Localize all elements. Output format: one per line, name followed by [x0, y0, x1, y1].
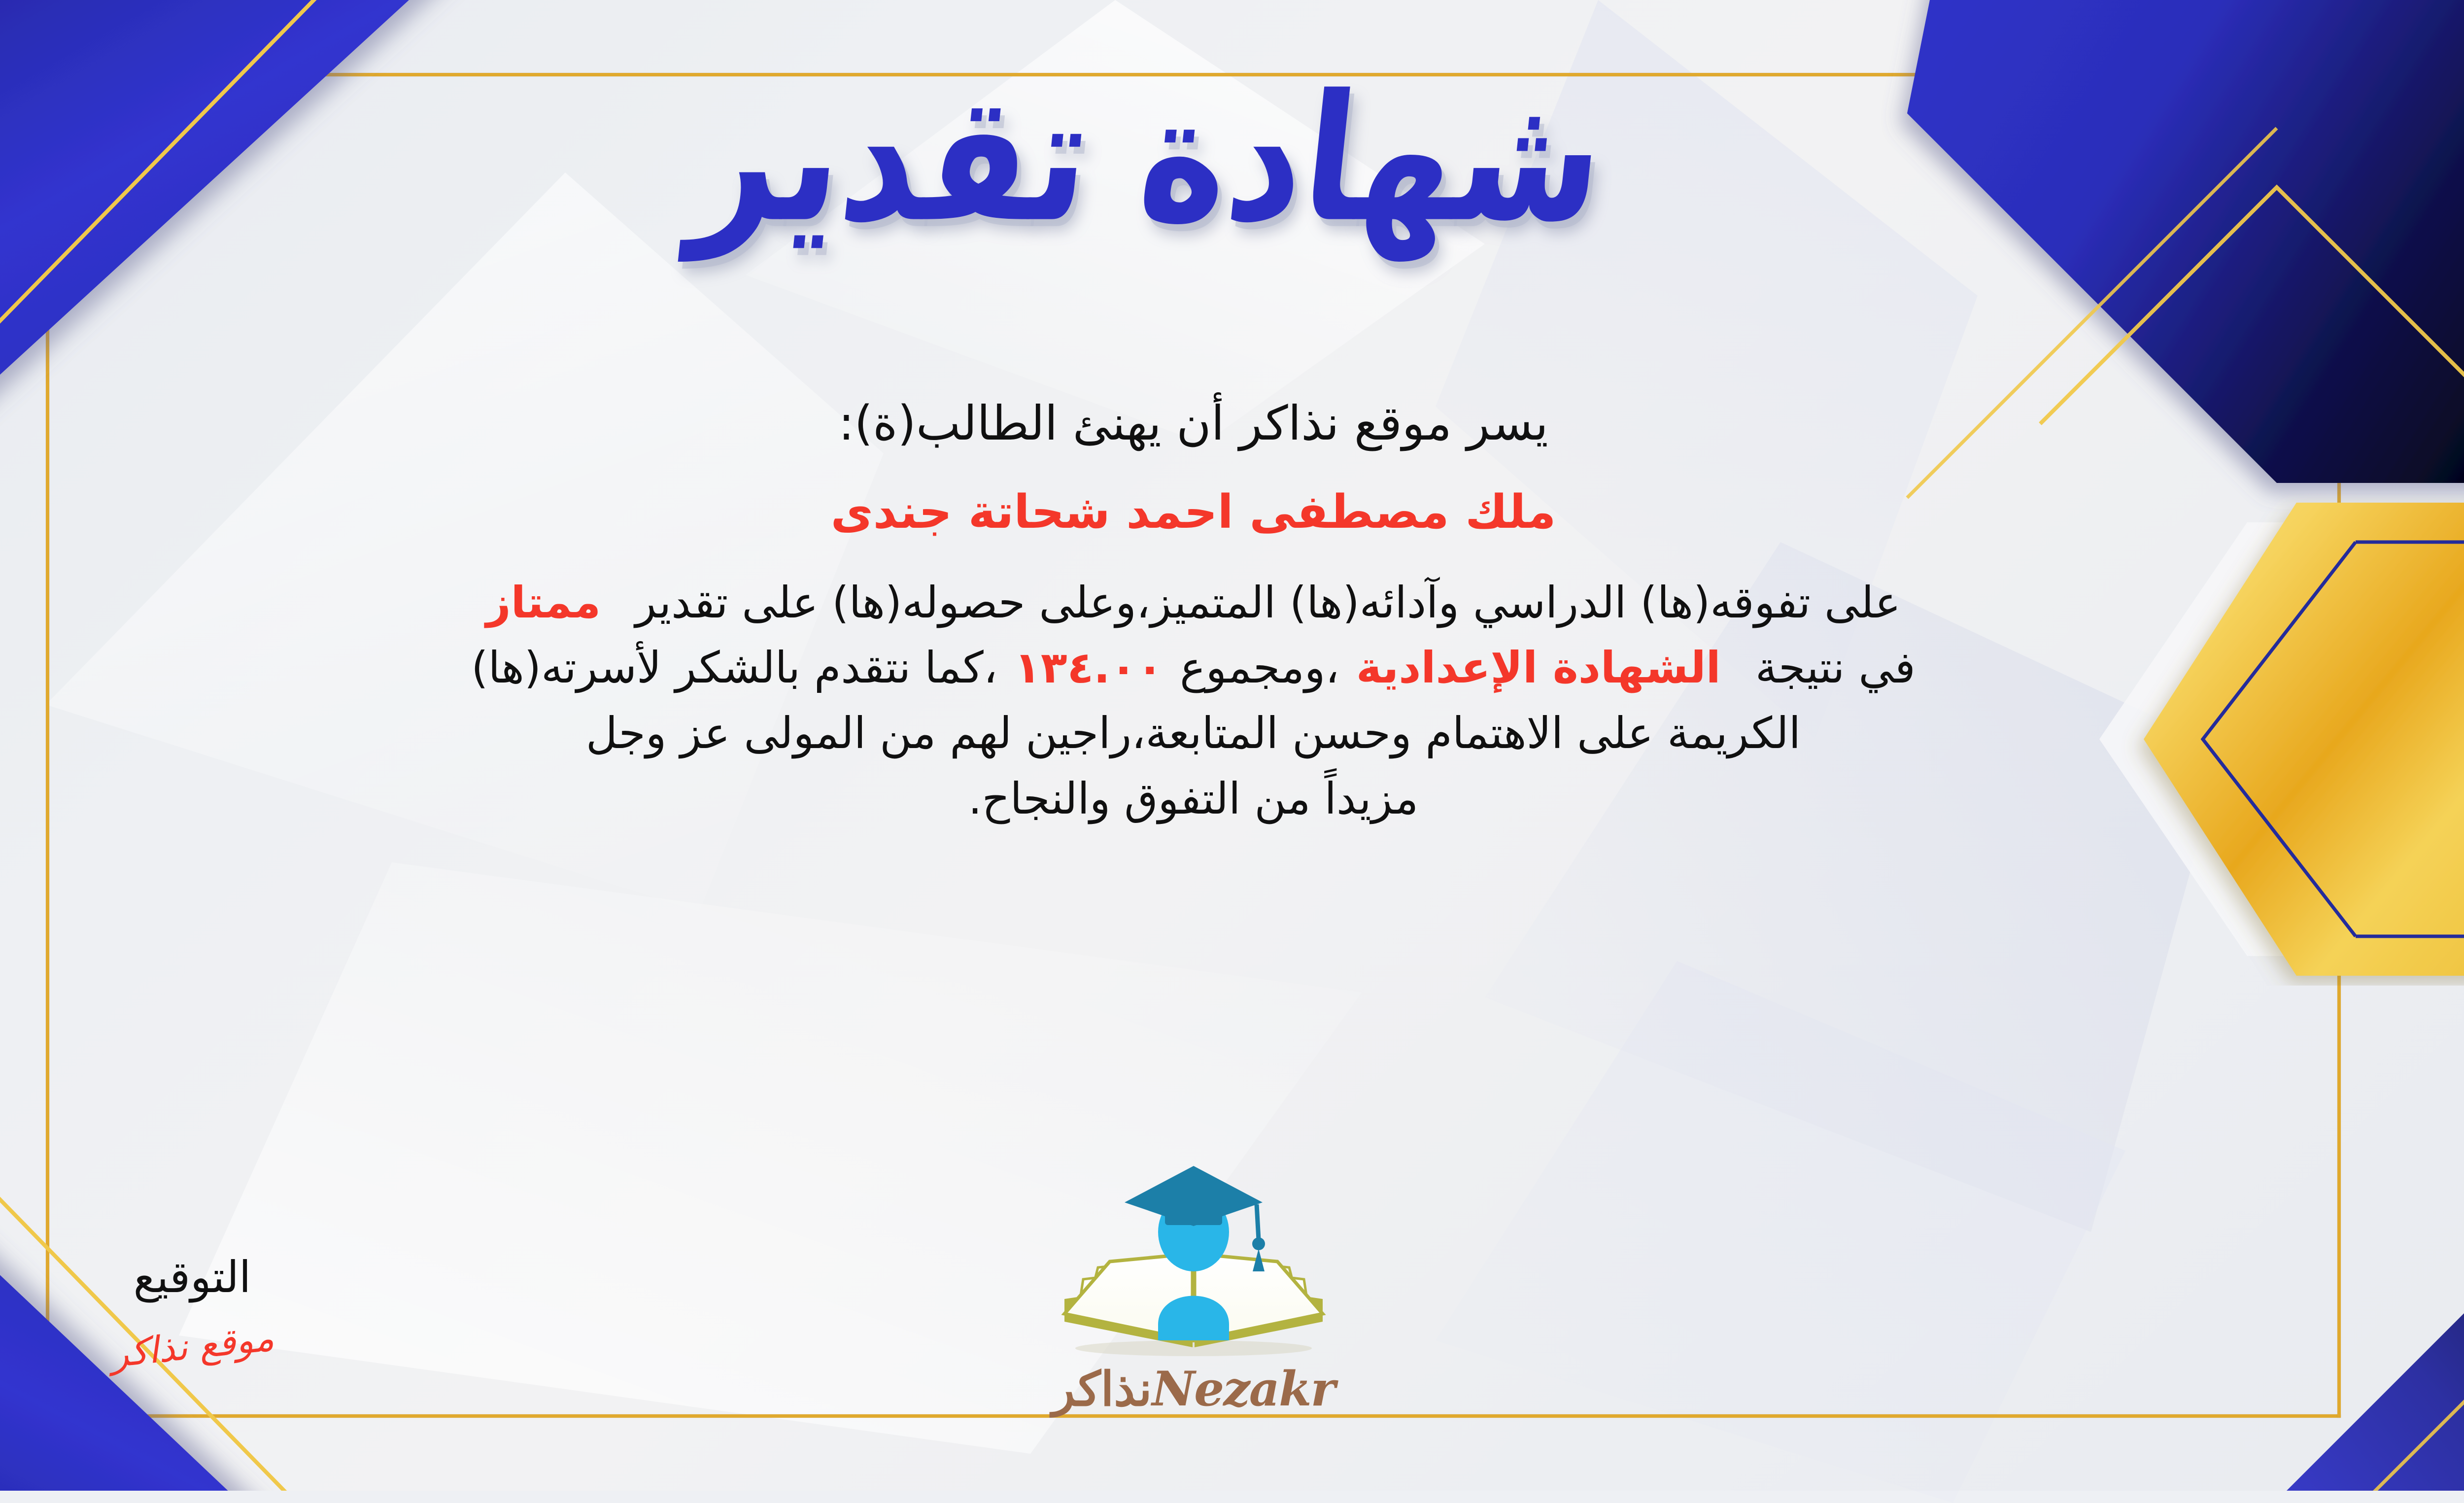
achievement-line-1: على تفوقه(ها) الدراسي وآدائه(ها) المتميز…: [46, 572, 2341, 634]
certificate-footer: التوقيع موقع نذاكر: [46, 1116, 2341, 1432]
signature-area: التوقيع موقع نذاكر: [5, 1252, 379, 1367]
achievement-line-4: مزيداً من التفوق والنجاح.: [46, 768, 2341, 830]
total-prefix: ،ومجموع: [1180, 642, 1339, 693]
logo-latin-text: Nezakr: [1152, 1361, 1335, 1417]
exam-name: الشهادة الإعدادية: [1356, 642, 1721, 693]
site-logo: Nezakrنذاكر: [1016, 1157, 1371, 1417]
graduate-book-logo-icon: [1036, 1157, 1351, 1364]
student-name: ملك مصطفى احمد شحاتة جندى: [46, 479, 2341, 546]
achievement-line-3: الكريمة على الاهتمام وحسن المتابعة،راجين…: [46, 702, 2341, 765]
logo-arabic-text: نذاكر: [1052, 1361, 1152, 1417]
achievement-text-1: على تفوقه(ها) الدراسي وآدائه(ها) المتميز…: [635, 577, 1901, 628]
grade-value: ممتاز: [486, 577, 601, 628]
certificate-title-area: شهادة تقدير: [0, 74, 2464, 244]
result-prefix: في نتيجة: [1755, 642, 1916, 693]
intro-line: يسر موقع نذاكر أن يهنئ الطالب(ة):: [46, 389, 2341, 457]
achievement-paragraph: على تفوقه(ها) الدراسي وآدائه(ها) المتميز…: [46, 572, 2341, 830]
signature-mark: موقع نذاكر: [108, 1317, 275, 1376]
page-title: شهادة تقدير: [684, 59, 1613, 259]
achievement-line-2: في نتيجةالشهادة الإعدادية،ومجموع١٣٤.٠٠،ك…: [46, 637, 2341, 699]
certificate-body: يسر موقع نذاكر أن يهنئ الطالب(ة): ملك مص…: [46, 389, 2341, 833]
thanks-text: ،كما نتقدم بالشكر لأسرته(ها): [471, 642, 997, 693]
total-score: ١٣٤.٠٠: [1014, 642, 1163, 693]
signature-label: التوقيع: [5, 1252, 379, 1302]
logo-wordmark: Nezakrنذاكر: [1016, 1361, 1371, 1417]
